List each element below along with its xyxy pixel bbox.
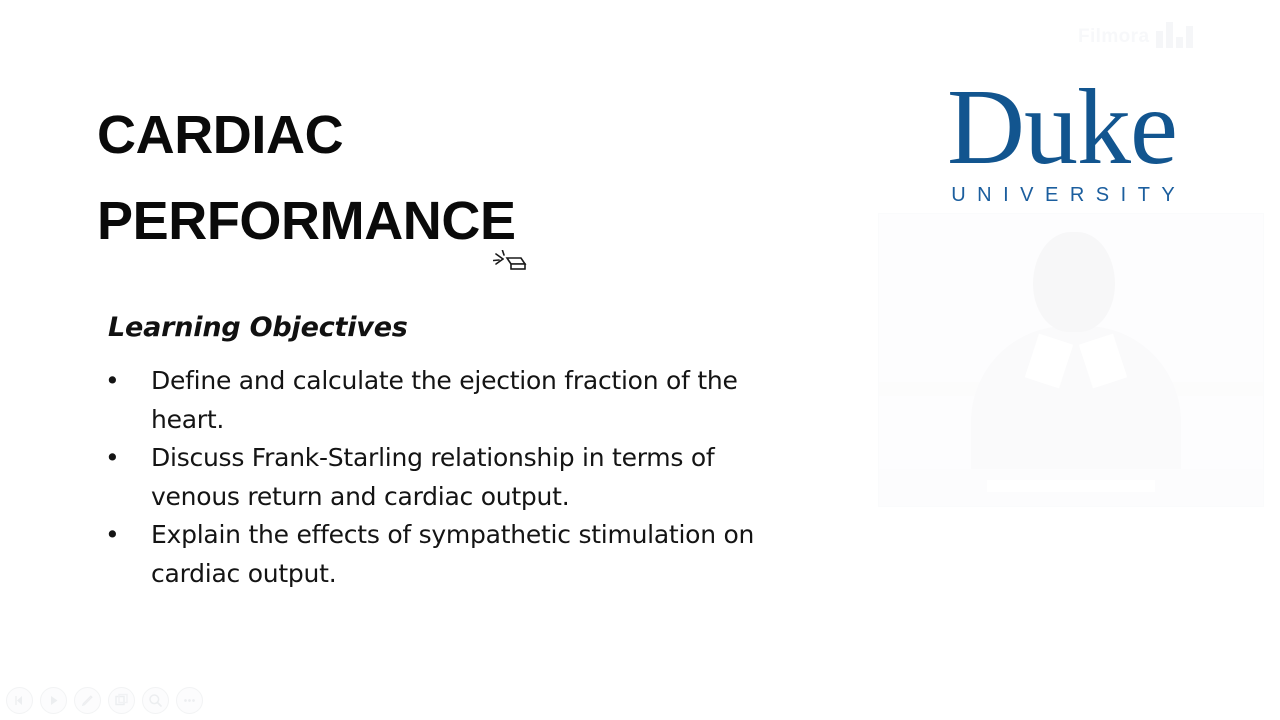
objectives-heading: Learning Objectives	[108, 312, 408, 343]
watermark-label: Filmora	[1078, 26, 1149, 48]
zoom-tool-button[interactable]	[142, 687, 169, 714]
pen-tool-button[interactable]	[74, 687, 101, 714]
bullet-glyph: •	[105, 362, 119, 401]
bullet-glyph: •	[105, 516, 119, 555]
playback-toolbar	[6, 687, 203, 714]
slide-canvas: CARDIAC PERFORMANCE Learning Objectives …	[0, 0, 1280, 720]
list-item: • Explain the effects of sympathetic sti…	[97, 516, 757, 593]
pen-icon	[79, 692, 96, 709]
duke-university-subtitle: UNIVERSITY	[902, 184, 1224, 207]
presenter-video-panel[interactable]	[878, 213, 1264, 507]
more-options-button[interactable]	[176, 687, 203, 714]
duke-university-logo: Duke UNIVERSITY	[900, 66, 1224, 211]
play-slide-button[interactable]	[40, 687, 67, 714]
watermark-bars-icon	[1156, 22, 1193, 48]
presenter-head	[1033, 232, 1115, 332]
previous-slide-button[interactable]	[6, 687, 33, 714]
slides-icon	[113, 692, 130, 709]
duke-wordmark: Duke	[900, 66, 1224, 190]
list-item: • Discuss Frank-Starling relationship in…	[97, 439, 757, 516]
list-item-text: Discuss Frank-Starling relationship in t…	[151, 439, 757, 516]
previous-icon	[12, 693, 27, 708]
recorder-watermark: Filmora	[1078, 22, 1193, 48]
video-caption-bar	[987, 480, 1155, 492]
list-item-text: Define and calculate the ejection fracti…	[151, 362, 757, 439]
play-icon	[46, 693, 61, 708]
eraser-wand-cursor	[493, 250, 527, 282]
list-item-text: Explain the effects of sympathetic stimu…	[151, 516, 757, 593]
magnifier-icon	[147, 692, 164, 709]
objectives-list: • Define and calculate the ejection frac…	[97, 362, 757, 593]
page-title: CARDIAC PERFORMANCE	[97, 92, 797, 264]
more-icon	[181, 692, 198, 709]
list-item: • Define and calculate the ejection frac…	[97, 362, 757, 439]
bullet-glyph: •	[105, 439, 119, 478]
slide-view-button[interactable]	[108, 687, 135, 714]
